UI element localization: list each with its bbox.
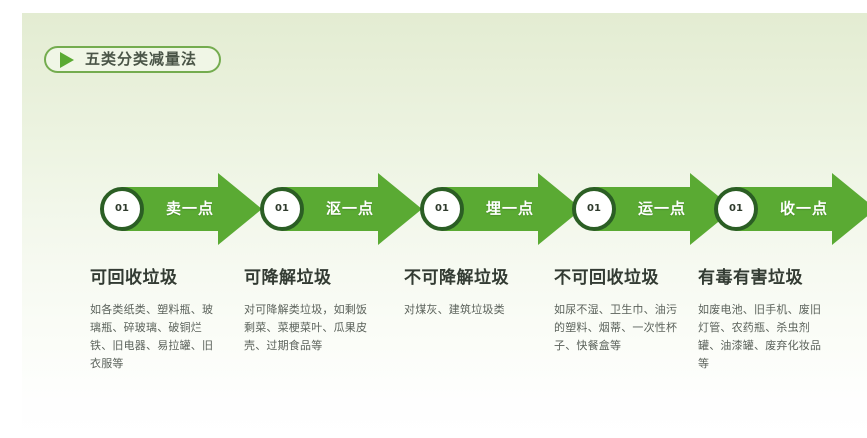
category-block-4: 不可回收垃圾 如尿不湿、卫生巾、油污的塑料、烟蒂、一次性杯子、快餐盒等 (554, 268, 678, 355)
category-block-2: 可降解垃圾 对可降解类垃圾，如剩饭剩菜、菜梗菜叶、瓜果皮壳、过期食品等 (244, 268, 368, 355)
category-description-1: 如各类纸类、塑料瓶、玻璃瓶、碎玻璃、破铜烂铁、旧电器、易拉罐、旧衣服等 (90, 301, 218, 372)
category-block-5: 有毒有害垃圾 如废电池、旧手机、废旧灯管、农药瓶、杀虫剂罐、油漆罐、废弃化妆品等 (698, 268, 826, 373)
step-5-number-badge: 01 (714, 187, 758, 231)
category-description-2: 对可降解类垃圾，如剩饭剩菜、菜梗菜叶、瓜果皮壳、过期食品等 (244, 301, 368, 354)
category-title-1: 可回收垃圾 (90, 268, 218, 288)
category-description-4: 如尿不湿、卫生巾、油污的塑料、烟蒂、一次性杯子、快餐盒等 (554, 301, 678, 354)
category-title-2: 可降解垃圾 (244, 268, 368, 288)
title-badge: 五类分类减量法 (44, 46, 221, 73)
category-title-4: 不可回收垃圾 (554, 268, 678, 288)
step-2-action-label: 沤一点 (326, 202, 374, 217)
step-4-number: 01 (587, 204, 601, 214)
step-1-action-label: 卖一点 (166, 202, 214, 217)
step-2-number-badge: 01 (260, 187, 304, 231)
step-3-number: 01 (435, 204, 449, 214)
step-4-number-badge: 01 (572, 187, 616, 231)
category-description-5: 如废电池、旧手机、废旧灯管、农药瓶、杀虫剂罐、油漆罐、废弃化妆品等 (698, 301, 826, 372)
step-5-number: 01 (729, 204, 743, 214)
category-block-1: 可回收垃圾 如各类纸类、塑料瓶、玻璃瓶、碎玻璃、破铜烂铁、旧电器、易拉罐、旧衣服… (90, 268, 218, 373)
step-3-number-badge: 01 (420, 187, 464, 231)
category-description-3: 对煤灰、建筑垃圾类 (404, 301, 528, 319)
poster-title: 五类分类减量法 (85, 52, 197, 67)
category-block-3: 不可降解垃圾 对煤灰、建筑垃圾类 (404, 268, 528, 319)
step-3-action-label: 埋一点 (486, 202, 534, 217)
play-triangle-icon (60, 52, 74, 68)
step-5-action-label: 收一点 (780, 202, 828, 217)
step-4-action-label: 运一点 (638, 202, 686, 217)
infographic-poster: 五类分类减量法 卖一点 01 沤一点 01 埋一点 (22, 13, 867, 438)
category-title-3: 不可降解垃圾 (404, 268, 528, 288)
step-1-number: 01 (115, 204, 129, 214)
step-1-number-badge: 01 (100, 187, 144, 231)
step-2-number: 01 (275, 204, 289, 214)
category-title-5: 有毒有害垃圾 (698, 268, 826, 288)
